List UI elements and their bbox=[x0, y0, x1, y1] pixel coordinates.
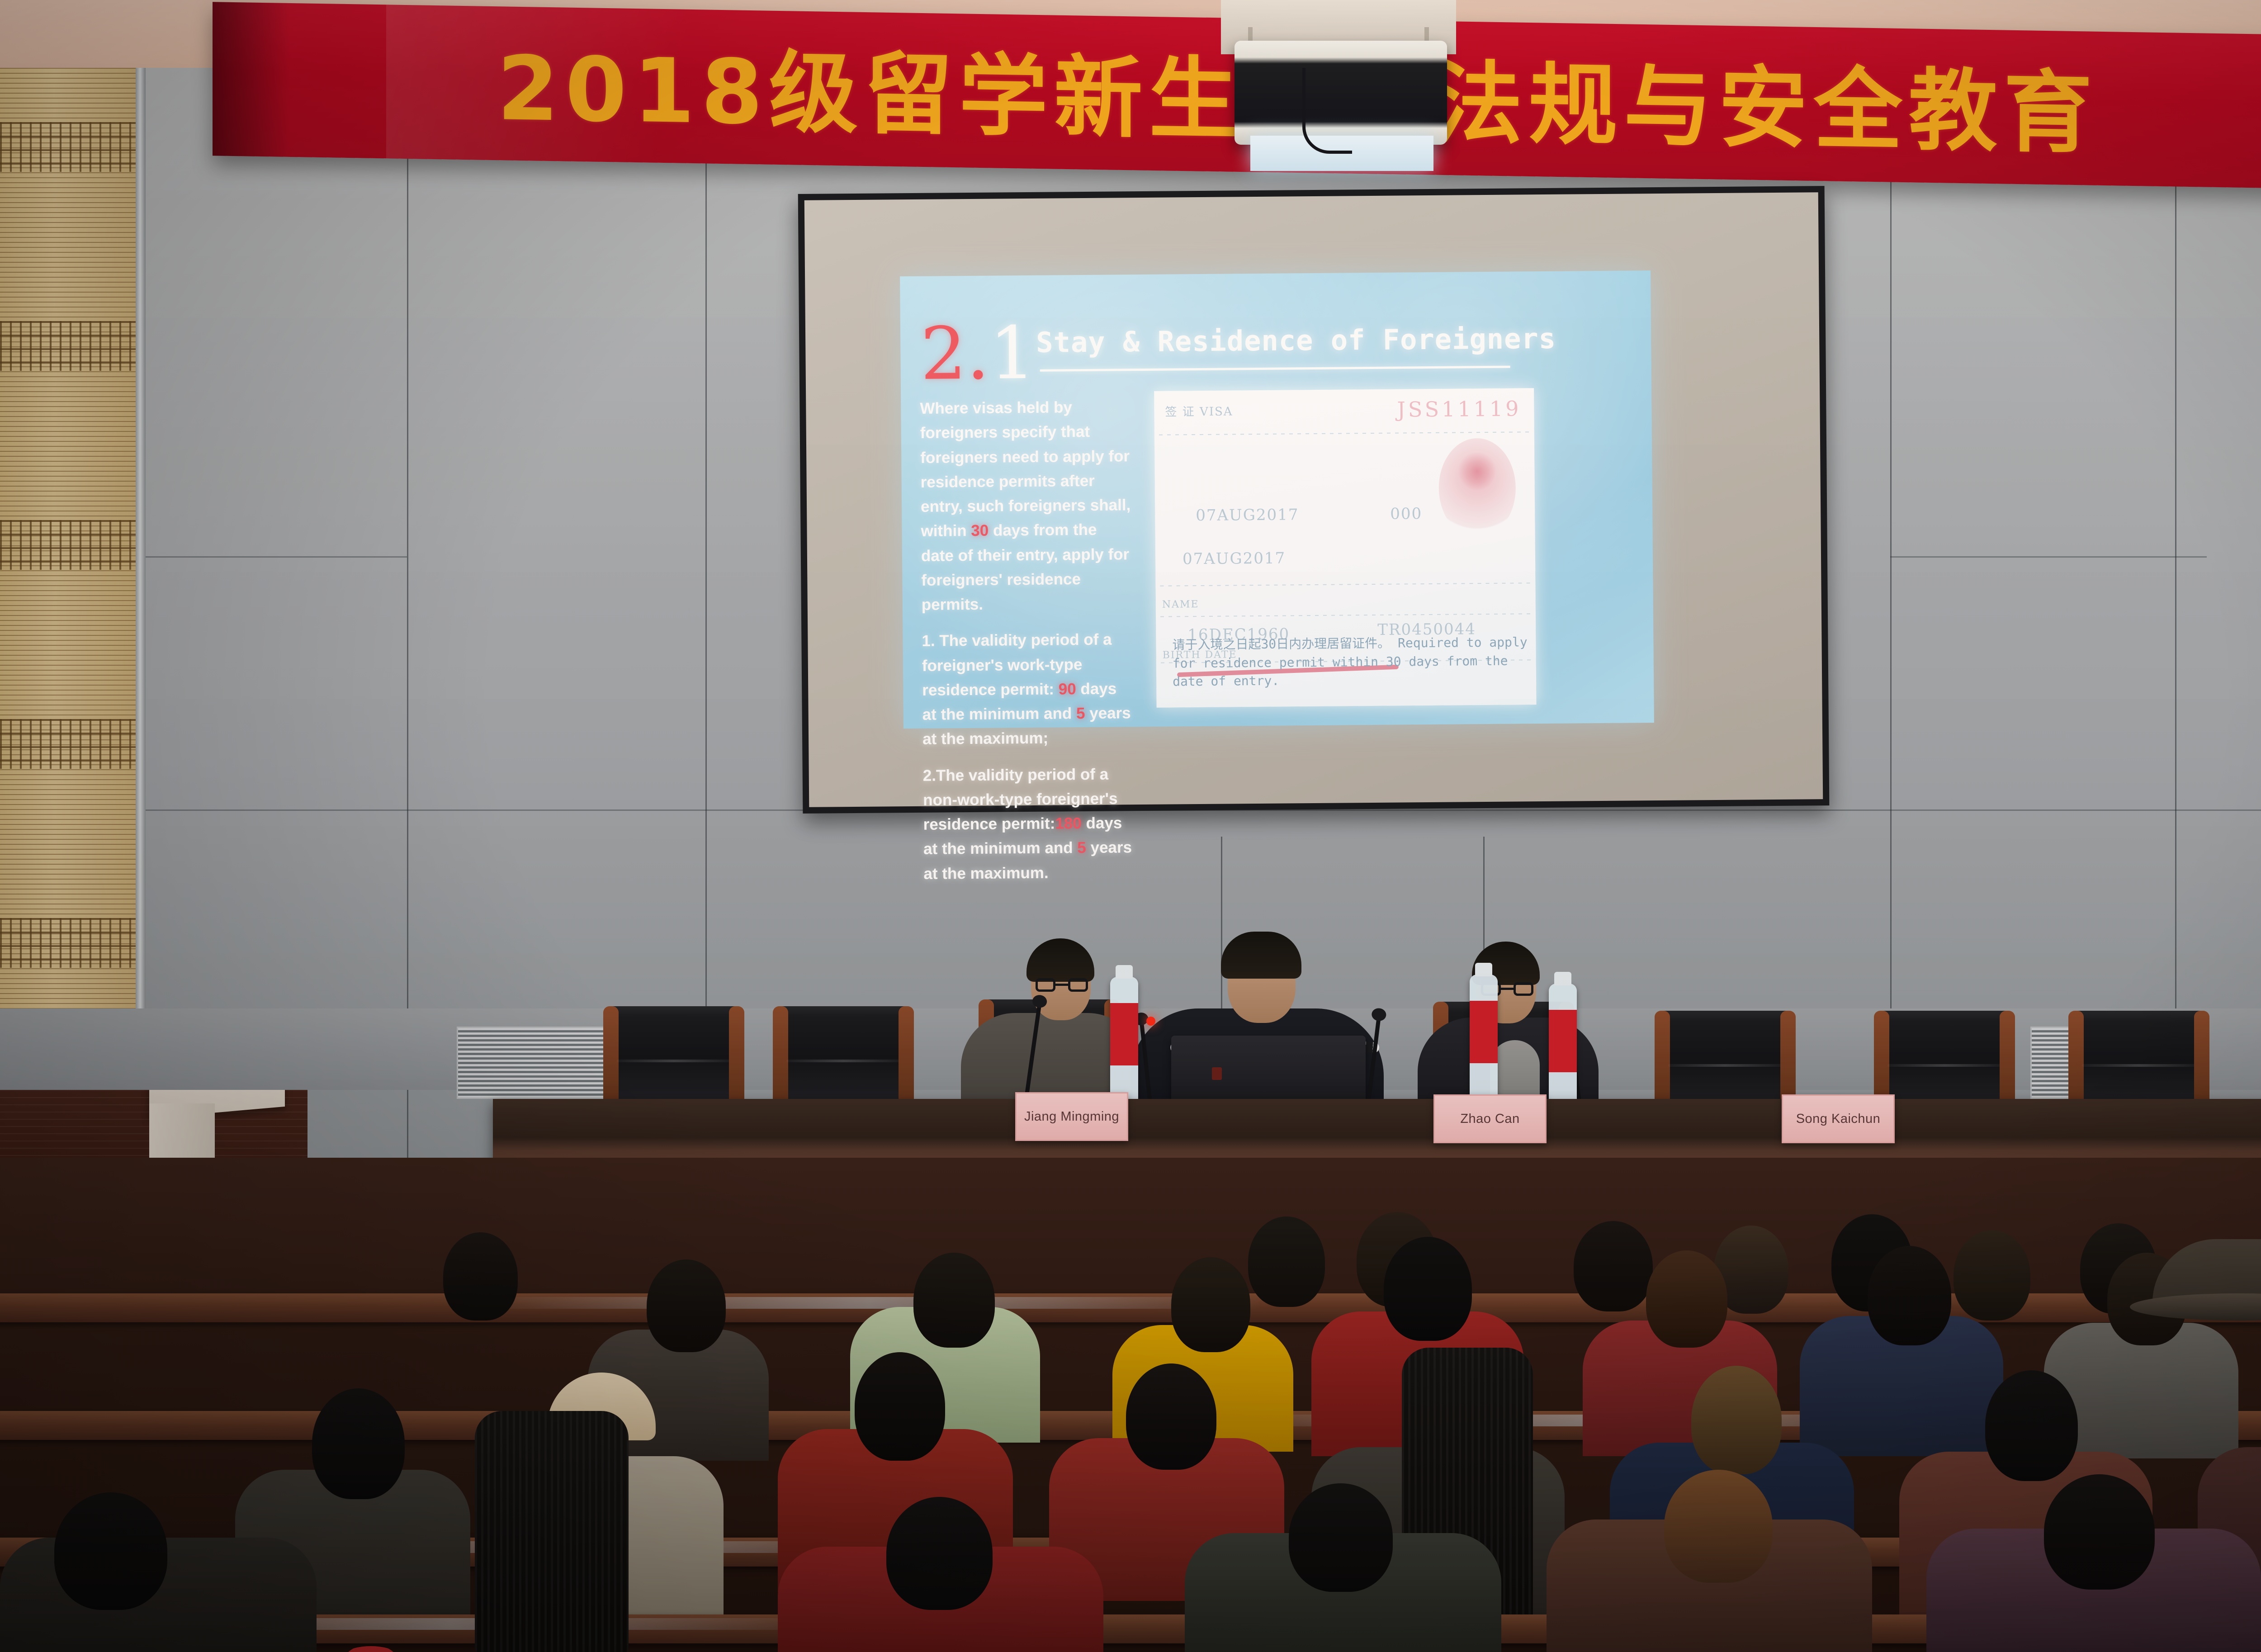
slide-paragraph-1: Where visas held by foreigners specify t… bbox=[920, 395, 1134, 617]
residence-permit-image: JSS11119 签 证 VISA 07AUG2017 000 07AUG201… bbox=[1154, 388, 1536, 708]
audience-person-a9 bbox=[443, 1232, 518, 1321]
audience-wide-brim-hat bbox=[2152, 1239, 2261, 1316]
audience-person-d5 bbox=[886, 1497, 993, 1610]
empty-chair-1 bbox=[606, 1006, 742, 1112]
audience-person-b3 bbox=[1384, 1237, 1472, 1341]
projector-cable bbox=[1302, 68, 1352, 154]
jacket-logo-badge bbox=[326, 1646, 416, 1652]
wall-trim-left bbox=[136, 68, 146, 1090]
slide-body-text: Where visas held by foreigners specify t… bbox=[920, 395, 1136, 898]
audience-person-c4 bbox=[1691, 1366, 1782, 1474]
audience-person-d2 bbox=[1664, 1470, 1773, 1583]
audience-person-c1 bbox=[855, 1352, 945, 1461]
wood-acoustic-panel-left bbox=[0, 68, 136, 1090]
name-placard-3: Song Kaichun bbox=[1782, 1094, 1895, 1143]
permit-note-cn: 请于入境之日起30日内办理居留证件。 bbox=[1172, 636, 1390, 653]
lecture-hall-photo: 2018级留学新生法律法规与安全教育 2.1 Stay & Residence … bbox=[0, 0, 2261, 1652]
name-placard-2: Zhao Can bbox=[1433, 1094, 1547, 1143]
audience-person-b8 bbox=[647, 1259, 726, 1352]
presentation-slide: 2.1 Stay & Residence of Foreigners Where… bbox=[900, 270, 1654, 729]
screen-surface: 2.1 Stay & Residence of Foreigners Where… bbox=[804, 192, 1823, 807]
empty-chair-2 bbox=[776, 1006, 911, 1112]
audience-braided-hair-left bbox=[475, 1411, 629, 1652]
permit-count: 000 bbox=[1390, 505, 1422, 523]
permit-emblem-icon bbox=[1457, 452, 1497, 491]
permit-issue-date: 07AUG2017 bbox=[1183, 549, 1286, 568]
audience-person-b4 bbox=[1646, 1250, 1727, 1348]
audience-person-d1 bbox=[1289, 1483, 1393, 1592]
audience-person-c9 bbox=[312, 1388, 405, 1499]
water-bottle-2 bbox=[1470, 975, 1498, 1110]
audience-person-d6 bbox=[54, 1492, 167, 1610]
audience-area bbox=[0, 1158, 2261, 1652]
audience-person-c5 bbox=[1985, 1370, 2078, 1481]
permit-note: 请于入境之日起30日内办理居留证件。 Required to apply for… bbox=[1172, 633, 1529, 691]
audience-person-b2 bbox=[1171, 1257, 1250, 1352]
audience-person-a1 bbox=[1248, 1217, 1325, 1307]
audience-person-a6 bbox=[1954, 1230, 2030, 1321]
slide-paragraph-3: 2.The validity period of a non-work-type… bbox=[923, 762, 1136, 886]
microphone-led-indicator bbox=[1146, 1017, 1155, 1026]
bench-row-4 bbox=[0, 1614, 2261, 1643]
audience-person-d3 bbox=[2044, 1474, 2155, 1590]
permit-entry-date: 07AUG2017 bbox=[1196, 506, 1299, 525]
slide-title: Stay & Residence of Foreigners bbox=[1036, 322, 1579, 359]
slide-section-number: 2.1 bbox=[920, 317, 1036, 390]
audience-person-b1 bbox=[913, 1253, 995, 1348]
projection-screen: 2.1 Stay & Residence of Foreigners Where… bbox=[798, 186, 1830, 814]
audience-person-b5 bbox=[1868, 1246, 1951, 1345]
audience-person-c2 bbox=[1126, 1363, 1216, 1470]
name-placard-1: Jiang Mingming bbox=[1015, 1092, 1128, 1141]
permit-serial: JSS11119 bbox=[1397, 396, 1521, 421]
audience-person-a3 bbox=[1574, 1221, 1653, 1311]
slide-title-rule bbox=[1040, 366, 1510, 372]
slide-paragraph-2: 1. The validity period of a foreigner's … bbox=[922, 627, 1135, 752]
permit-label-name: NAME bbox=[1162, 599, 1199, 611]
